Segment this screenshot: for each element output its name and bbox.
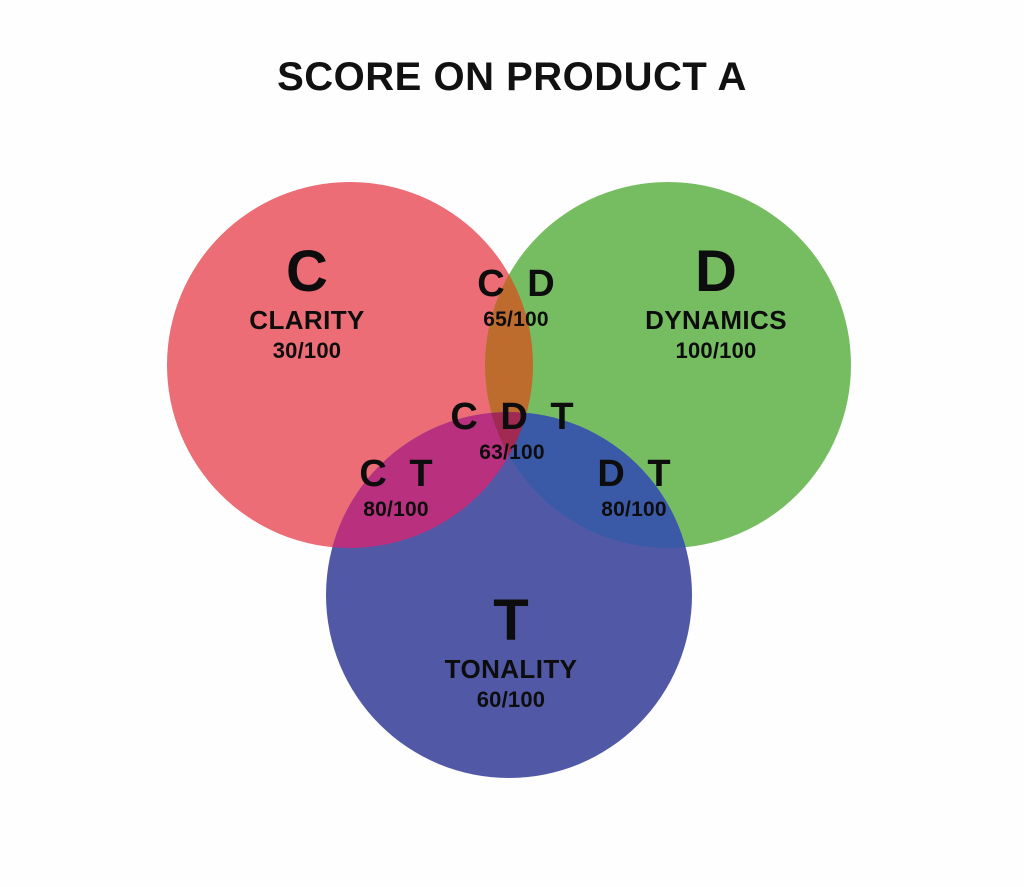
venn-diagram — [0, 0, 1024, 887]
venn-svg — [0, 0, 1024, 887]
venn-chart-page: SCORE ON PRODUCT A — [0, 0, 1024, 887]
